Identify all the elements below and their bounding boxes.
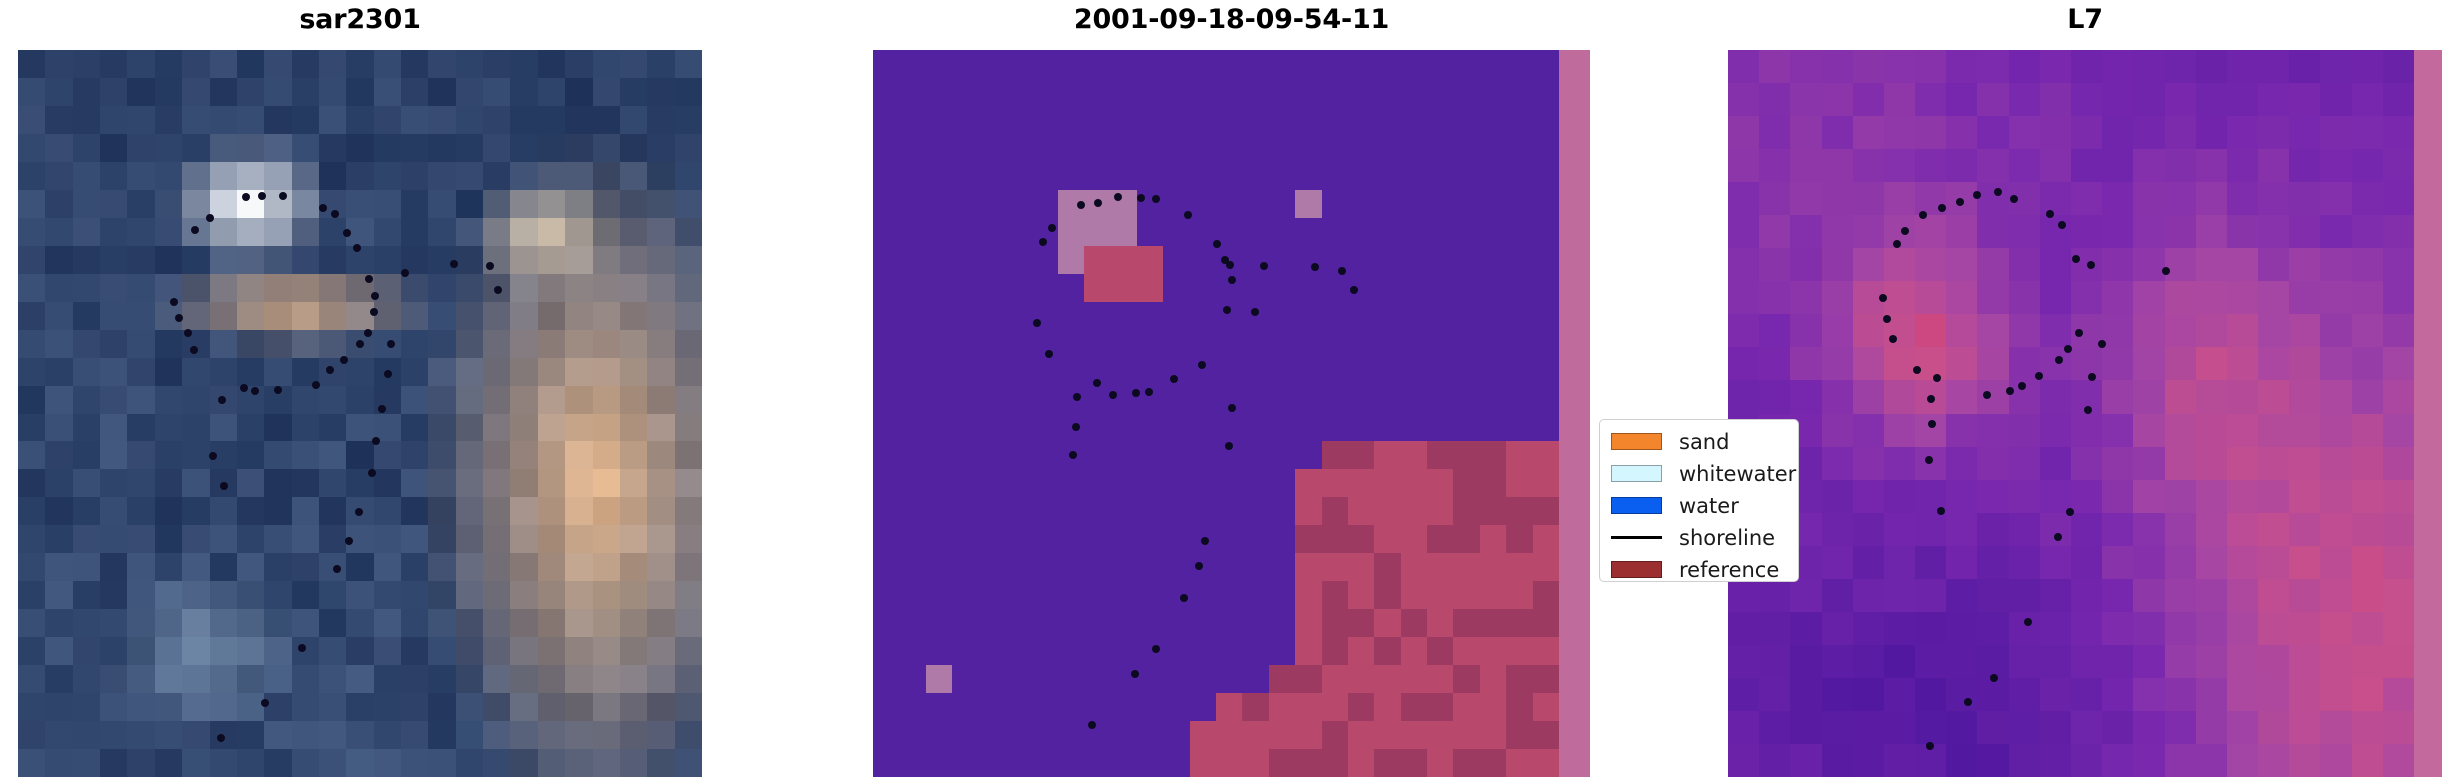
raster-cell	[1884, 513, 1916, 547]
raster-cell	[1506, 190, 1533, 219]
raster-cell	[1084, 134, 1111, 163]
shoreline-dot	[1152, 645, 1160, 653]
raster-cell	[2320, 83, 2352, 117]
raster-cell	[1137, 721, 1164, 750]
raster-cell	[1348, 50, 1375, 79]
raster-cell	[926, 106, 953, 135]
raster-cell	[1031, 106, 1058, 135]
raster-cell	[1216, 525, 1243, 554]
raster-cell	[346, 386, 374, 415]
raster-cell	[2258, 612, 2290, 646]
raster-cell	[620, 330, 648, 359]
raster-cell	[1427, 190, 1454, 219]
raster-cell	[2383, 612, 2415, 646]
raster-cell	[483, 134, 511, 163]
raster-cell	[1190, 637, 1217, 666]
raster-cell	[428, 749, 456, 777]
raster-cell	[2289, 116, 2321, 150]
raster-cell	[675, 358, 702, 387]
raster-cell	[510, 414, 538, 443]
raster-cell	[979, 469, 1006, 498]
raster-cell	[483, 106, 511, 135]
raster-cell	[538, 609, 566, 638]
raster-cell	[1110, 637, 1137, 666]
raster-cell	[2009, 50, 2041, 84]
raster-cell	[237, 581, 265, 610]
raster-cell	[1427, 553, 1454, 582]
raster-cell	[346, 358, 374, 387]
shoreline-dot	[319, 204, 327, 212]
raster-cell	[1401, 386, 1428, 415]
raster-cell	[1031, 386, 1058, 415]
raster-cell	[1884, 281, 1916, 315]
raster-cell	[1031, 749, 1058, 777]
raster-cell	[1533, 581, 1560, 610]
raster-cell	[1216, 358, 1243, 387]
raster-cell	[1242, 106, 1269, 135]
raster-cell	[979, 274, 1006, 303]
raster-cell	[952, 386, 979, 415]
raster-cell	[2383, 50, 2415, 84]
raster-cell	[979, 414, 1006, 443]
raster-cell	[1790, 116, 1822, 150]
raster-cell	[1295, 497, 1322, 526]
raster-cell	[1790, 149, 1822, 183]
legend-label: whitewater	[1679, 462, 1796, 486]
raster-cell	[401, 302, 429, 331]
raster-cell	[2165, 579, 2197, 613]
raster-cell	[1853, 414, 1885, 448]
raster-cell	[510, 274, 538, 303]
raster-cell	[292, 106, 320, 135]
raster-cell	[1374, 302, 1401, 331]
raster-cell	[565, 78, 593, 107]
raster-cell	[1401, 106, 1428, 135]
raster-cell	[18, 190, 46, 219]
raster-cell	[155, 581, 183, 610]
raster-cell	[45, 358, 73, 387]
raster-cell	[1946, 248, 1978, 282]
raster-cell	[1453, 330, 1480, 359]
raster-cell	[1084, 693, 1111, 722]
raster-cell	[1946, 414, 1978, 448]
raster-cell	[1295, 414, 1322, 443]
raster-cell	[647, 665, 675, 694]
shoreline-dot	[1184, 211, 1192, 219]
raster-cell	[926, 609, 953, 638]
raster-cell	[1915, 347, 1947, 381]
raster-cell	[1058, 218, 1085, 247]
raster-cell	[374, 78, 402, 107]
raster-cell	[620, 358, 648, 387]
raster-cell	[1322, 162, 1349, 191]
raster-cell	[2009, 744, 2041, 777]
raster-cell	[1190, 50, 1217, 79]
raster-cell	[1915, 678, 1947, 712]
raster-cell	[155, 162, 183, 191]
raster-cell	[1374, 637, 1401, 666]
raster-cell	[456, 609, 484, 638]
raster-cell	[1506, 274, 1533, 303]
raster-cell	[1242, 749, 1269, 777]
raster-cell	[155, 637, 183, 666]
raster-cell	[1533, 246, 1560, 275]
raster-cell	[1110, 106, 1137, 135]
raster-cell	[155, 106, 183, 135]
raster-cell	[2227, 414, 2259, 448]
raster-cell	[1946, 116, 1978, 150]
raster-cell	[1322, 525, 1349, 554]
raster-cell	[2165, 711, 2197, 745]
raster-cell	[1453, 525, 1480, 554]
raster-cell	[873, 78, 900, 107]
raster-cell	[1427, 414, 1454, 443]
raster-cell	[1853, 579, 1885, 613]
panel-sar2301[interactable]	[18, 50, 702, 777]
raster-cell	[1427, 721, 1454, 750]
raster-cell	[2196, 281, 2228, 315]
raster-cell	[1822, 380, 1854, 414]
shoreline-dot	[2084, 406, 2092, 414]
raster-cell	[1110, 581, 1137, 610]
raster-cell	[182, 386, 210, 415]
raster-cell	[926, 693, 953, 722]
shoreline-dot	[2075, 329, 2083, 337]
raster-cell	[127, 749, 155, 777]
shoreline-dot	[298, 644, 306, 652]
raster-cell	[1137, 106, 1164, 135]
raster-cell	[1884, 480, 1916, 514]
raster-cell	[565, 637, 593, 666]
shoreline-dot	[1201, 537, 1209, 545]
raster-cell	[2133, 215, 2165, 249]
raster-cell	[18, 609, 46, 638]
raster-cell	[1322, 637, 1349, 666]
raster-cell	[2071, 447, 2103, 481]
raster-cell	[979, 134, 1006, 163]
raster-cell	[1506, 218, 1533, 247]
raster-cell	[2102, 546, 2134, 580]
raster-cell	[428, 134, 456, 163]
raster-cell	[2040, 414, 2072, 448]
raster-cell	[1005, 330, 1032, 359]
raster-cell	[127, 637, 155, 666]
raster-cell	[155, 358, 183, 387]
raster-cell	[456, 302, 484, 331]
raster-cell	[2320, 645, 2352, 679]
raster-cell	[1295, 50, 1322, 79]
raster-cell	[401, 469, 429, 498]
raster-cell	[319, 525, 347, 554]
shoreline-dot	[1994, 188, 2002, 196]
raster-cell	[1480, 274, 1507, 303]
raster-cell	[2133, 711, 2165, 745]
raster-cell	[1190, 274, 1217, 303]
raster-cell	[2289, 447, 2321, 481]
raster-cell	[2227, 182, 2259, 216]
raster-cell	[1242, 274, 1269, 303]
raster-cell	[237, 358, 265, 387]
raster-cell	[2133, 281, 2165, 315]
raster-cell	[1242, 497, 1269, 526]
raster-cell	[1163, 330, 1190, 359]
raster-cell	[2196, 380, 2228, 414]
raster-cell	[127, 162, 155, 191]
raster-cell	[1295, 78, 1322, 107]
raster-cell	[1374, 693, 1401, 722]
raster-cell	[1348, 106, 1375, 135]
raster-cell	[620, 469, 648, 498]
raster-cell	[1163, 134, 1190, 163]
raster-cell	[18, 134, 46, 163]
raster-cell	[374, 665, 402, 694]
raster-cell	[647, 637, 675, 666]
raster-cell	[899, 665, 926, 694]
raster-cell	[1728, 711, 1760, 745]
raster-cell	[593, 469, 621, 498]
raster-cell	[873, 553, 900, 582]
panel-l7[interactable]	[1728, 50, 2442, 777]
raster-cell	[1401, 134, 1428, 163]
raster-cell	[1084, 637, 1111, 666]
shoreline-dot	[1228, 276, 1236, 284]
shoreline-dot	[1883, 315, 1891, 323]
raster-cell	[2133, 314, 2165, 348]
raster-cell	[1759, 711, 1791, 745]
raster-cell	[1915, 513, 1947, 547]
raster-cell	[899, 414, 926, 443]
raster-cell	[292, 218, 320, 247]
raster-cell	[1348, 749, 1375, 777]
raster-cell	[952, 162, 979, 191]
raster-cell	[428, 358, 456, 387]
raster-cell	[292, 274, 320, 303]
raster-cell	[2258, 414, 2290, 448]
raster-cell	[593, 693, 621, 722]
raster-cell	[1005, 218, 1032, 247]
raster-cell	[1058, 469, 1085, 498]
raster-cell	[1506, 525, 1533, 554]
raster-cell	[1084, 274, 1111, 303]
raster-cell	[319, 693, 347, 722]
raster-cell	[1533, 386, 1560, 415]
raster-cell	[2383, 711, 2415, 745]
raster-cell	[2040, 149, 2072, 183]
raster-cell	[73, 162, 101, 191]
raster-cell	[1453, 441, 1480, 470]
raster-cell	[1295, 441, 1322, 470]
raster-cell	[1269, 637, 1296, 666]
raster-cell	[1427, 274, 1454, 303]
raster-cell	[1216, 330, 1243, 359]
raster-cell	[1322, 274, 1349, 303]
raster-cell	[1977, 314, 2009, 348]
raster-cell	[647, 302, 675, 331]
raster-cell	[873, 581, 900, 610]
raster-cell	[374, 693, 402, 722]
raster-cell	[401, 441, 429, 470]
raster-cell	[1533, 274, 1560, 303]
raster-cell	[1822, 149, 1854, 183]
raster-cell	[182, 162, 210, 191]
raster-cell	[1216, 469, 1243, 498]
raster-cell	[1295, 469, 1322, 498]
raster-cell	[873, 469, 900, 498]
raster-cell	[18, 106, 46, 135]
raster-cell	[374, 302, 402, 331]
raster-cell	[456, 414, 484, 443]
raster-cell	[127, 218, 155, 247]
raster-cell	[127, 134, 155, 163]
raster-cell	[1084, 330, 1111, 359]
raster-cell	[1533, 553, 1560, 582]
raster-cell	[2165, 50, 2197, 84]
raster-cell	[620, 693, 648, 722]
raster-cell	[2352, 480, 2384, 514]
raster-cell	[2258, 645, 2290, 679]
raster-cell	[1401, 497, 1428, 526]
raster-cell	[1946, 447, 1978, 481]
raster-cell	[100, 302, 128, 331]
raster-cell	[456, 274, 484, 303]
raster-cell	[237, 665, 265, 694]
raster-cell	[100, 162, 128, 191]
raster-cell	[620, 609, 648, 638]
raster-cell	[510, 106, 538, 135]
raster-cell	[45, 721, 73, 750]
panel-classified[interactable]	[873, 50, 1590, 777]
raster-cell	[2258, 248, 2290, 282]
shoreline-dot	[2064, 345, 2072, 353]
raster-cell	[1216, 162, 1243, 191]
raster-cell	[1084, 553, 1111, 582]
raster-cell	[73, 749, 101, 777]
raster-cell	[2102, 744, 2134, 777]
raster-cell	[1728, 149, 1760, 183]
raster-cell	[456, 190, 484, 219]
raster-cell	[1374, 134, 1401, 163]
raster-cell	[264, 414, 292, 443]
raster-cell	[1374, 553, 1401, 582]
raster-cell	[2102, 447, 2134, 481]
raster-cell	[873, 721, 900, 750]
raster-cell	[2227, 83, 2259, 117]
raster-cell	[2289, 215, 2321, 249]
raster-cell	[1853, 149, 1885, 183]
l7-raster	[1728, 50, 2442, 777]
raster-cell	[73, 637, 101, 666]
raster-cell	[483, 190, 511, 219]
raster-cell	[127, 414, 155, 443]
raster-cell	[1977, 248, 2009, 282]
raster-cell	[1269, 218, 1296, 247]
raster-cell	[1977, 380, 2009, 414]
raster-cell	[1216, 721, 1243, 750]
raster-cell	[1533, 190, 1560, 219]
raster-cell	[100, 274, 128, 303]
raster-cell	[2258, 513, 2290, 547]
raster-cell	[1480, 190, 1507, 219]
raster-cell	[1453, 637, 1480, 666]
raster-cell	[2227, 513, 2259, 547]
shoreline-dot	[258, 192, 266, 200]
raster-cell	[127, 609, 155, 638]
raster-cell	[155, 246, 183, 275]
raster-cell	[1427, 218, 1454, 247]
raster-cell	[2352, 546, 2384, 580]
raster-cell	[1216, 749, 1243, 777]
raster-cell	[100, 78, 128, 107]
raster-cell	[2196, 645, 2228, 679]
raster-cell	[2133, 546, 2165, 580]
raster-cell	[155, 190, 183, 219]
raster-cell	[1853, 380, 1885, 414]
raster-cell	[1242, 414, 1269, 443]
shoreline-dot	[384, 370, 392, 378]
raster-cell	[1453, 665, 1480, 694]
raster-cell	[264, 609, 292, 638]
raster-cell	[1137, 218, 1164, 247]
raster-cell	[483, 246, 511, 275]
raster-cell	[1110, 414, 1137, 443]
raster-cell	[483, 581, 511, 610]
raster-cell	[2289, 645, 2321, 679]
raster-cell	[1480, 358, 1507, 387]
raster-cell	[182, 525, 210, 554]
raster-cell	[264, 246, 292, 275]
raster-cell	[1977, 744, 2009, 777]
raster-cell	[264, 581, 292, 610]
raster-cell	[127, 581, 155, 610]
raster-cell	[1759, 645, 1791, 679]
raster-cell	[292, 190, 320, 219]
raster-cell	[647, 414, 675, 443]
raster-cell	[18, 386, 46, 415]
raster-cell	[1480, 749, 1507, 777]
raster-cell	[1790, 182, 1822, 216]
raster-cell	[1427, 50, 1454, 79]
raster-cell	[1453, 218, 1480, 247]
raster-cell	[18, 302, 46, 331]
raster-cell	[952, 581, 979, 610]
shoreline-dot	[1913, 366, 1921, 374]
raster-cell	[2352, 579, 2384, 613]
raster-cell	[2289, 83, 2321, 117]
shoreline-dot	[1152, 195, 1160, 203]
raster-cell	[73, 246, 101, 275]
raster-cell	[1005, 302, 1032, 331]
raster-cell	[1031, 358, 1058, 387]
raster-cell	[593, 162, 621, 191]
raster-cell	[979, 246, 1006, 275]
raster-cell	[1480, 665, 1507, 694]
raster-cell	[428, 553, 456, 582]
raster-cell	[675, 386, 702, 415]
raster-cell	[1190, 665, 1217, 694]
raster-cell	[979, 358, 1006, 387]
raster-cell	[428, 469, 456, 498]
shoreline-dot	[274, 386, 282, 394]
raster-cell	[319, 749, 347, 777]
raster-cell	[1031, 581, 1058, 610]
raster-cell	[1031, 609, 1058, 638]
raster-cell	[1853, 480, 1885, 514]
raster-cell	[1190, 441, 1217, 470]
raster-cell	[593, 414, 621, 443]
raster-cell	[565, 246, 593, 275]
raster-cell	[1506, 302, 1533, 331]
raster-cell	[1058, 553, 1085, 582]
